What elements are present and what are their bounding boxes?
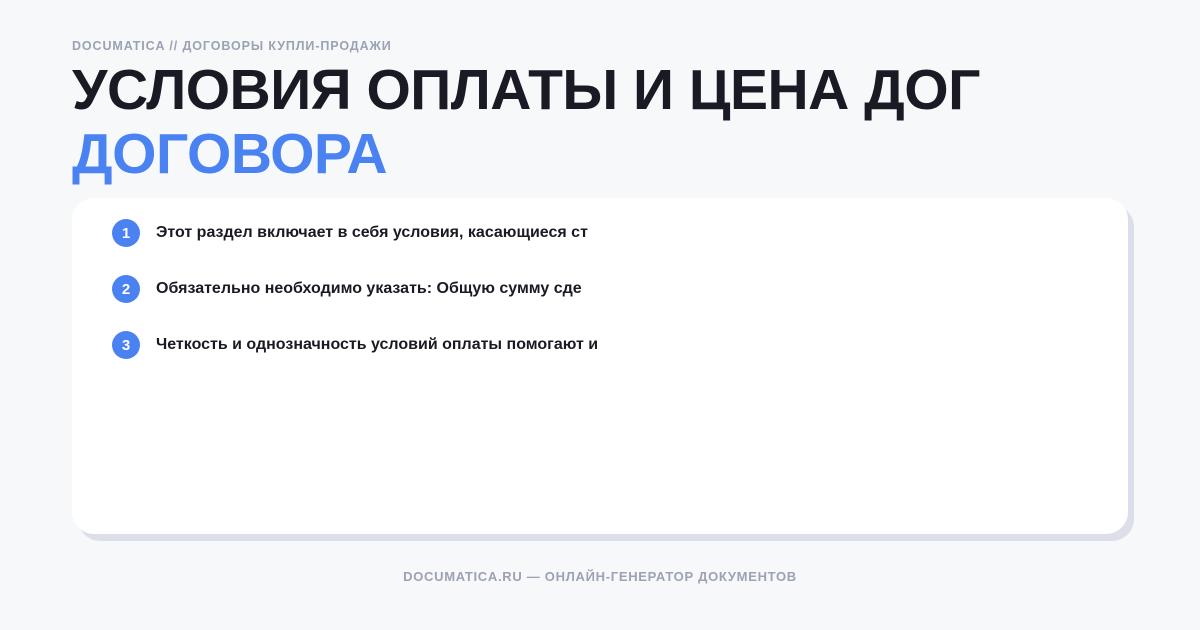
- list-number-badge: 1: [112, 219, 140, 247]
- list-item: 1 Этот раздел включает в себя условия, к…: [112, 219, 1088, 247]
- list-item: 2 Обязательно необходимо указать: Общую …: [112, 275, 1088, 303]
- page-title: УСЛОВИЯ ОПЛАТЫ И ЦЕНА ДОГ ДОГОВОРА: [72, 58, 1132, 186]
- page-title-line-2: ДОГОВОРА: [72, 122, 1132, 186]
- slide-canvas: DOCUMATICA // ДОГОВОРЫ КУПЛИ-ПРОДАЖИ УСЛ…: [0, 0, 1200, 630]
- list-number-badge: 3: [112, 331, 140, 359]
- page-title-line-1: УСЛОВИЯ ОПЛАТЫ И ЦЕНА ДОГ: [72, 58, 1132, 122]
- list-number-badge: 2: [112, 275, 140, 303]
- list-item-text: Обязательно необходимо указать: Общую су…: [156, 279, 582, 299]
- list-item-text: Этот раздел включает в себя условия, кас…: [156, 223, 588, 243]
- content-card-wrapper: 1 Этот раздел включает в себя условия, к…: [72, 198, 1128, 534]
- content-card: 1 Этот раздел включает в себя условия, к…: [72, 198, 1128, 534]
- list-item-text: Четкость и однозначность условий оплаты …: [156, 335, 598, 355]
- numbered-list: 1 Этот раздел включает в себя условия, к…: [112, 219, 1088, 359]
- breadcrumb: DOCUMATICA // ДОГОВОРЫ КУПЛИ-ПРОДАЖИ: [72, 38, 392, 54]
- footer-text: DOCUMATICA.RU — ОНЛАЙН-ГЕНЕРАТОР ДОКУМЕН…: [0, 568, 1200, 586]
- list-item: 3 Четкость и однозначность условий оплат…: [112, 331, 1088, 359]
